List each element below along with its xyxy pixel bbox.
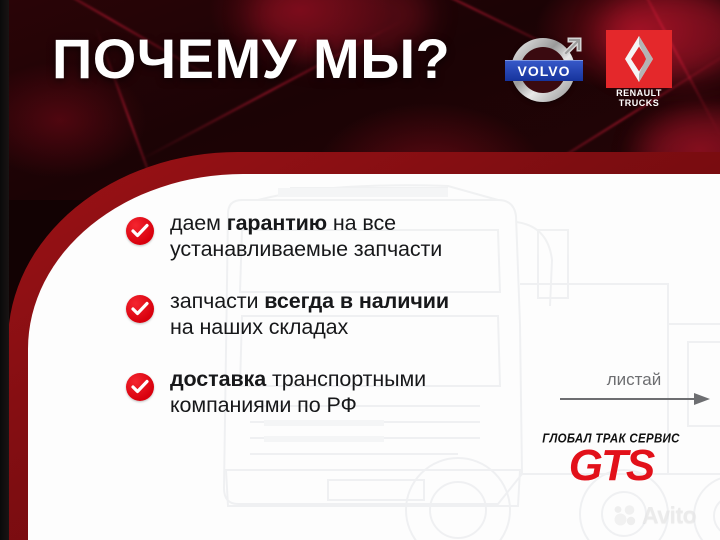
benefit-text-bold: гарантию — [227, 211, 327, 235]
benefit-text: доставка транспортными компаниями по РФ — [170, 366, 426, 418]
benefit-line-1: даем гарантию на все — [170, 210, 442, 236]
page-title: ПОЧЕМУ МЫ? — [52, 26, 450, 91]
benefit-text-plain: устанавливаемые запчасти — [170, 237, 442, 261]
benefit-text: даем гарантию на все устанавливаемые зап… — [170, 210, 442, 262]
promo-slide: ПОЧЕМУ МЫ? VOLVO RENAULT TRUCKS — [0, 0, 720, 540]
check-circle-icon — [126, 217, 154, 245]
left-border-frame — [0, 0, 9, 540]
volvo-logo: VOLVO — [503, 30, 589, 110]
benefit-text-plain: даем — [170, 211, 227, 235]
benefit-line-1: доставка транспортными — [170, 366, 426, 392]
volvo-wordmark: VOLVO — [505, 60, 583, 81]
benefit-line-2: компаниями по РФ — [170, 392, 426, 418]
renault-wordmark: RENAULT TRUCKS — [606, 88, 672, 108]
benefit-text-plain: транспортными — [266, 367, 426, 391]
gts-logo: ГЛОБАЛ ТРАК СЕРВИС GTS — [536, 432, 686, 487]
renault-diamond-icon — [606, 30, 672, 88]
volvo-arrow-icon — [559, 34, 585, 60]
swipe-hint[interactable]: листай — [560, 370, 710, 411]
benefit-line-1: запчасти всегда в наличии — [170, 288, 449, 314]
benefit-text-plain: на все — [327, 211, 396, 235]
renault-wordmark-line1: RENAULT — [606, 88, 672, 98]
avito-watermark: Avito — [614, 502, 696, 529]
benefit-text-bold: всегда в наличии — [264, 289, 449, 313]
avito-wordmark: Avito — [642, 502, 696, 529]
list-item: доставка транспортными компаниями по РФ — [126, 366, 556, 418]
benefit-text-bold: доставка — [170, 367, 266, 391]
benefit-line-2: на наших складах — [170, 314, 449, 340]
benefits-list: даем гарантию на все устанавливаемые зап… — [126, 210, 556, 444]
avito-dots-icon — [614, 505, 638, 527]
benefit-text-plain: на наших складах — [170, 315, 348, 339]
benefit-text-plain: компаниями по РФ — [170, 393, 357, 417]
benefit-line-2: устанавливаемые запчасти — [170, 236, 442, 262]
check-circle-icon — [126, 373, 154, 401]
benefit-text-plain: запчасти — [170, 289, 264, 313]
renault-wordmark-line2: TRUCKS — [606, 98, 672, 108]
gts-wordmark: GTS — [536, 445, 686, 487]
renault-square — [606, 30, 672, 88]
check-circle-icon — [126, 295, 154, 323]
arrow-right-icon — [560, 392, 710, 406]
list-item: даем гарантию на все устанавливаемые зап… — [126, 210, 556, 262]
benefit-text: запчасти всегда в наличии на наших склад… — [170, 288, 449, 340]
swipe-label: листай — [578, 370, 690, 390]
renault-trucks-logo: RENAULT TRUCKS — [606, 30, 672, 112]
gts-tagline: ГЛОБАЛ ТРАК СЕРВИС — [536, 432, 686, 446]
list-item: запчасти всегда в наличии на наших склад… — [126, 288, 556, 340]
